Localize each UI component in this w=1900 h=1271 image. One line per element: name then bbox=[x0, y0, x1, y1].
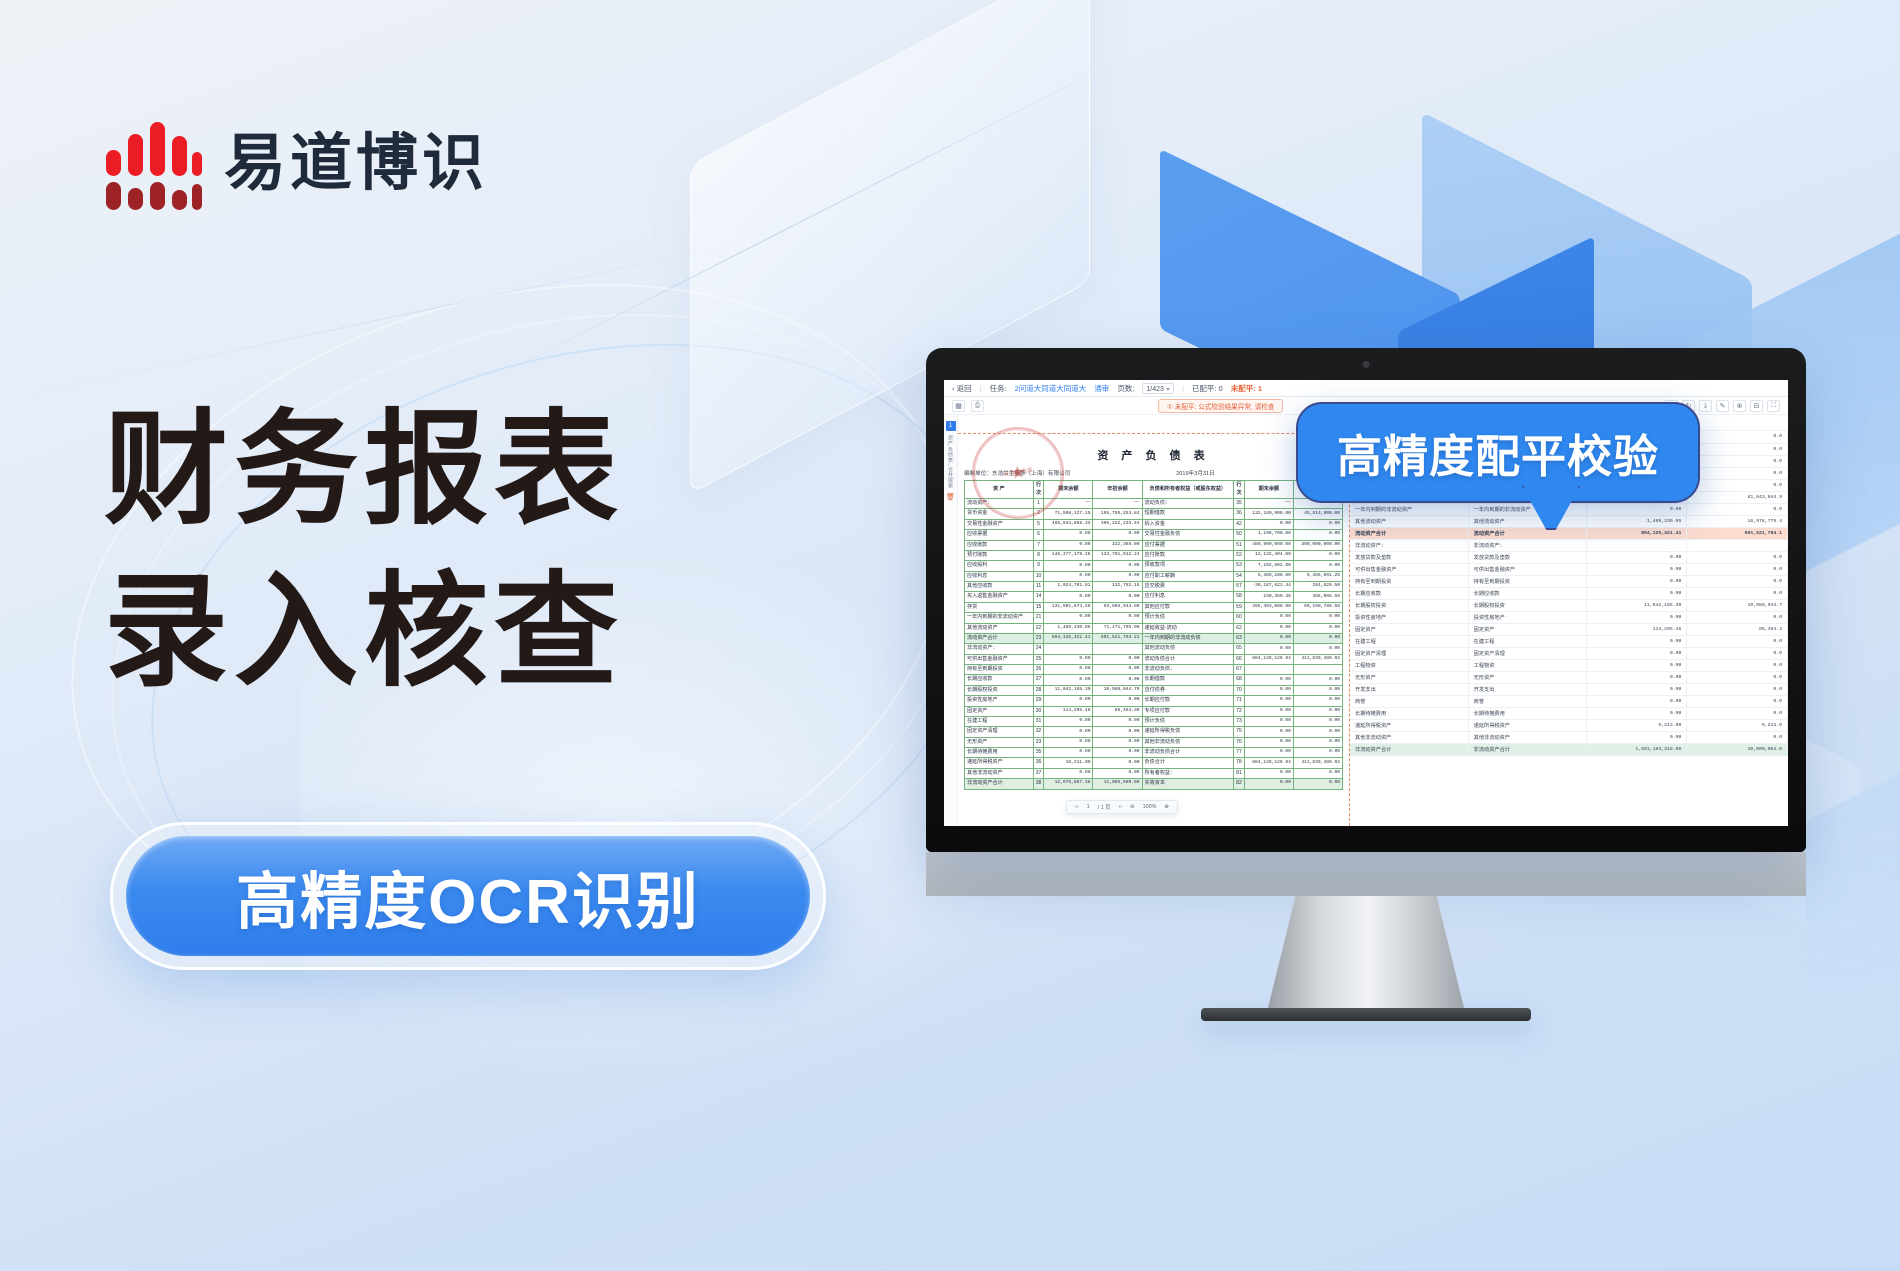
table-cell: 0.00 bbox=[1293, 737, 1342, 747]
table-cell: 133,791,912.24 bbox=[1093, 550, 1142, 560]
table-cell: 11,065,509.00 bbox=[1093, 779, 1142, 789]
star-icon: ★ bbox=[1009, 460, 1027, 486]
table-cell: 0.00 bbox=[1044, 737, 1093, 747]
banner-canvas: 易道博识 财务报表 录入核查 高精度OCR识别 ‹ 返回 | 任务: 2问道大同… bbox=[0, 0, 1900, 1271]
table-cell: 长期应收款 bbox=[965, 675, 1034, 685]
table-cell: 6 bbox=[1033, 530, 1044, 540]
list-item[interactable]: 持有至到期投资持有至到期投资0.000.0 bbox=[1350, 575, 1788, 587]
table-cell: 132,752.15 bbox=[1093, 582, 1142, 592]
table-cell: 0.00 bbox=[1093, 737, 1142, 747]
table-cell: 7 bbox=[1033, 540, 1044, 550]
field-cell: 0.0 bbox=[1687, 443, 1788, 455]
table-row[interactable]: 无形资产330.000.00其他非流动负债760.000.00 bbox=[965, 737, 1343, 747]
table-cell: 132,180,906.00 bbox=[1244, 509, 1293, 519]
table-cell: 131,991,874.29 bbox=[1044, 602, 1093, 612]
page-title: 财务报表 录入核查 bbox=[104, 392, 624, 710]
table-cell: 0.00 bbox=[1293, 550, 1342, 560]
table-row[interactable]: 流动资产合计23894,125,421.41601,521,794.21一年内到… bbox=[965, 633, 1343, 643]
field-cell: 发放贷款及垫款 bbox=[1350, 551, 1468, 563]
table-column-header: 年初余额 bbox=[1093, 481, 1142, 499]
list-item[interactable]: 投资性房地产投资性房地产0.000.0 bbox=[1350, 611, 1788, 623]
table-cell: 1,489,330.95 bbox=[1044, 623, 1093, 633]
field-cell: 流动资产合计 bbox=[1350, 527, 1468, 539]
table-cell: 114,295.46 bbox=[1044, 706, 1093, 716]
table-row[interactable]: 投资性房地产290.000.00长期应付款710.000.00 bbox=[965, 696, 1343, 706]
unbalanced-count: 未配平: 1 bbox=[1231, 383, 1262, 394]
table-cell: 0.00 bbox=[1044, 540, 1093, 550]
table-column-header: 行次 bbox=[1234, 481, 1245, 499]
list-item[interactable]: 商誉商誉0.000.0 bbox=[1350, 695, 1788, 707]
field-cell: 0.00 bbox=[1586, 659, 1687, 671]
table-cell: 0.00 bbox=[1044, 696, 1093, 706]
table-row[interactable]: 应收利息100.000.00应付职工薪酬545,369,288.005,455,… bbox=[965, 571, 1343, 581]
table-cell: 应付利息 bbox=[1142, 592, 1234, 602]
table-cell: 396,222,233.44 bbox=[1093, 519, 1142, 529]
table-cell: 0.00 bbox=[1093, 748, 1142, 758]
table-cell: 50 bbox=[1234, 530, 1245, 540]
table-cell: 拆入资金 bbox=[1142, 519, 1234, 529]
task-name[interactable]: 2问道大同道大同道大 bbox=[1015, 383, 1087, 394]
headline-line-2: 录入核查 bbox=[104, 554, 624, 710]
table-cell: 0.00 bbox=[1044, 727, 1093, 737]
table-cell: 230,359.38 bbox=[1244, 592, 1293, 602]
table-cell: 投资性房地产 bbox=[965, 696, 1034, 706]
field-cell: 0.0 bbox=[1687, 731, 1788, 743]
table-cell: 0.00 bbox=[1044, 675, 1093, 685]
table-cell: 65 bbox=[1234, 644, 1245, 654]
table-cell: 0.00 bbox=[1293, 561, 1342, 571]
table-cell: 28 bbox=[1033, 685, 1044, 695]
table-cell: 12,975,857.38 bbox=[1044, 779, 1093, 789]
table-cell: 0.00 bbox=[1244, 519, 1293, 529]
table-cell: 0.00 bbox=[1093, 696, 1142, 706]
table-row[interactable]: 交易性金融资产5488,944,888.33396,222,233.44拆入资金… bbox=[965, 519, 1343, 529]
table-cell: 0.00 bbox=[1293, 675, 1342, 685]
table-cell: 流动负债合计 bbox=[1142, 654, 1234, 664]
table-cell bbox=[1244, 665, 1293, 675]
zoom-level: 100% bbox=[1143, 804, 1157, 810]
list-item[interactable]: 其他非流动资产其他非流动资产0.000.0 bbox=[1350, 731, 1788, 743]
table-cell: 其他应付款 bbox=[1142, 602, 1234, 612]
table-cell: 应收票据 bbox=[965, 530, 1034, 540]
table-cell: 1,198,708.00 bbox=[1244, 530, 1293, 540]
table-cell: 322,368.00 bbox=[1093, 540, 1142, 550]
table-cell: 15 bbox=[1033, 602, 1044, 612]
cta-pill[interactable]: 高精度OCR识别 bbox=[110, 822, 826, 970]
field-cell: 非流动资产： bbox=[1468, 539, 1586, 551]
table-row[interactable]: 其他非流动资产370.000.00所有者权益：810.000.00 bbox=[965, 768, 1343, 778]
table-cell: 固定资产清理 bbox=[965, 727, 1034, 737]
table-cell: 预付账款 bbox=[965, 550, 1034, 560]
table-cell: 非流动负债合计 bbox=[1142, 748, 1234, 758]
table-row[interactable]: 其他应收款111,024,701.91132,752.15应交税费57-30,1… bbox=[965, 582, 1343, 592]
pagination-current: 1 bbox=[1087, 804, 1090, 810]
field-cell: 0.00 bbox=[1586, 563, 1687, 575]
field-cell: 递延所得税资产 bbox=[1468, 719, 1586, 731]
pagination-control[interactable]: ‹‹ 1 / 1 页 ›› ⊖ 100% ⊕ bbox=[1066, 800, 1178, 814]
table-cell: 0.00 bbox=[1093, 768, 1142, 778]
table-cell: 长期股权投资 bbox=[965, 685, 1034, 695]
table-row[interactable]: 非流动资产：24其他流动负债650.000.00 bbox=[965, 644, 1343, 654]
table-cell: 35 bbox=[1033, 748, 1044, 758]
field-cell: 持有至到期投资 bbox=[1350, 575, 1468, 587]
table-cell: 66 bbox=[1234, 654, 1245, 664]
field-cell: 其他流动资产 bbox=[1468, 515, 1586, 527]
field-cell: 0.00 bbox=[1586, 671, 1687, 683]
table-cell: 0.00 bbox=[1093, 571, 1142, 581]
table-row[interactable]: 应收股利90.000.00预收款项537,102,602.000.00 bbox=[965, 561, 1343, 571]
field-cell: 601,521,794.1 bbox=[1687, 527, 1788, 539]
table-cell: 0.00 bbox=[1093, 530, 1142, 540]
table-cell bbox=[1044, 644, 1093, 654]
table-row[interactable]: 非流动资产合计3812,975,857.3811,065,509.00实收资本8… bbox=[965, 779, 1343, 789]
table-cell: 36 bbox=[1033, 758, 1044, 768]
table-cell: 35 bbox=[1234, 499, 1245, 509]
field-cell: 9,213.0 bbox=[1687, 719, 1788, 731]
list-item[interactable]: 在建工程在建工程0.000.0 bbox=[1350, 635, 1788, 647]
table-cell: 0.00 bbox=[1293, 779, 1342, 789]
table-cell: 应付职工薪酬 bbox=[1142, 571, 1234, 581]
bezel-bottom bbox=[926, 826, 1806, 852]
table-cell: 385,065.58 bbox=[1293, 592, 1342, 602]
list-item[interactable]: 递延所得税资产递延所得税资产9,213.009,213.0 bbox=[1350, 719, 1788, 731]
table-cell: 300,000,000.00 bbox=[1293, 540, 1342, 550]
table-cell: 5 bbox=[1033, 519, 1044, 529]
list-item[interactable]: 可供出售金融资产可供出售金融资产0.000.0 bbox=[1350, 563, 1788, 575]
field-cell bbox=[1687, 539, 1788, 551]
table-cell: 26 bbox=[1033, 665, 1044, 675]
field-cell: 0.00 bbox=[1586, 551, 1687, 563]
field-cell: 0.00 bbox=[1586, 575, 1687, 587]
table-cell: 0.00 bbox=[1044, 654, 1093, 664]
unbalanced-alert: ① 未配平: 公式校验结果异常, 请检查 bbox=[1158, 399, 1283, 413]
table-cell: 68 bbox=[1234, 675, 1245, 685]
table-cell: 195,755,253.84 bbox=[1093, 509, 1142, 519]
table-cell: 884,149,126.94 bbox=[1244, 654, 1293, 664]
list-item[interactable]: 固定资产固定资产114,295.4685,464.3 bbox=[1350, 623, 1788, 635]
field-cell: 0.0 bbox=[1687, 683, 1788, 695]
list-item[interactable]: 其他流动资产其他流动资产1,489,330.9516,978,779.4 bbox=[1350, 515, 1788, 527]
list-item[interactable]: 非流动资产合计非流动资产合计1,891,183,318.0010,000,004… bbox=[1350, 743, 1788, 755]
table-cell: 0.00 bbox=[1244, 644, 1293, 654]
field-cell: 无形资产 bbox=[1468, 671, 1586, 683]
table-cell: 45,514,900.00 bbox=[1293, 509, 1342, 519]
table-cell: 0.00 bbox=[1244, 716, 1293, 726]
table-cell: 411,839,480.92 bbox=[1293, 758, 1342, 768]
table-row[interactable]: 固定资产清理320.000.00递延所得税负债750.000.00 bbox=[965, 727, 1343, 737]
back-button[interactable]: ‹ 返回 bbox=[952, 383, 972, 394]
field-cell: 其他非流动资产 bbox=[1468, 731, 1586, 743]
table-row[interactable]: 预付账款8146,377,179.26133,791,912.24应付账款521… bbox=[965, 550, 1343, 560]
table-cell: 0.00 bbox=[1244, 737, 1293, 747]
field-cell: 0.00 bbox=[1586, 587, 1687, 599]
cta-pill-body[interactable]: 高精度OCR识别 bbox=[126, 836, 810, 956]
field-cell: 0.0 bbox=[1687, 611, 1788, 623]
list-item[interactable]: 开发支出开发支出0.000.0 bbox=[1350, 683, 1788, 695]
list-item[interactable]: 长期应收款长期应收款0.000.0 bbox=[1350, 587, 1788, 599]
table-cell: 37 bbox=[1033, 768, 1044, 778]
table-cell: 应付债券 bbox=[1142, 685, 1234, 695]
field-cell: 1,489,330.95 bbox=[1586, 515, 1687, 527]
table-cell: 交易性金融资产 bbox=[965, 519, 1034, 529]
table-cell: 0.00 bbox=[1244, 779, 1293, 789]
table-cell: 0.00 bbox=[1244, 727, 1293, 737]
table-cell: 其他非流动资产 bbox=[965, 768, 1034, 778]
zoom-out-icon[interactable]: ⊖ bbox=[1130, 804, 1135, 810]
table-cell: 0.00 bbox=[1244, 633, 1293, 643]
table-row[interactable]: 长期待摊费用350.000.00非流动负债合计770.000.00 bbox=[965, 748, 1343, 758]
table-cell: 应交税费 bbox=[1142, 582, 1234, 592]
field-cell: 其他流动资产 bbox=[1350, 515, 1468, 527]
table-row[interactable]: 存货15131,991,874.2993,903,944.90其他应付款5926… bbox=[965, 602, 1343, 612]
zoom-icon[interactable]: ⊕ bbox=[1733, 400, 1746, 412]
monitor-stand-neck bbox=[1268, 896, 1464, 1008]
field-cell: 0.0 bbox=[1687, 479, 1788, 491]
field-cell: 0.0 bbox=[1687, 659, 1788, 671]
table-cell: 0.00 bbox=[1293, 696, 1342, 706]
field-cell: 非流动资产： bbox=[1350, 539, 1468, 551]
table-cell: 1,024,701.91 bbox=[1044, 582, 1093, 592]
table-cell: 0.00 bbox=[1044, 768, 1093, 778]
table-cell: 0.00 bbox=[1044, 530, 1093, 540]
prev-page-icon[interactable]: ‹‹ bbox=[1075, 804, 1079, 810]
table-row[interactable]: 应收账款70.00322,368.00应付票据51480,900,000.003… bbox=[965, 540, 1343, 550]
table-cell: 0.00 bbox=[1293, 519, 1342, 529]
table-cell: 284,629.50 bbox=[1293, 582, 1342, 592]
fit-icon[interactable]: ⊟ bbox=[1750, 400, 1763, 412]
table-cell: 0.00 bbox=[1293, 685, 1342, 695]
table-cell: 可供出售金融资产 bbox=[965, 654, 1034, 664]
field-cell: 长期应收款 bbox=[1468, 587, 1586, 599]
table-cell: 14 bbox=[1033, 592, 1044, 602]
report-date: 2019年3月31日 bbox=[1176, 469, 1215, 477]
table-row[interactable]: 固定资产30114,295.4685,464.30专项应付款720.000.00 bbox=[965, 706, 1343, 716]
table-row[interactable]: 应收票据60.000.00交易性金融负债501,198,708.000.00 bbox=[965, 530, 1343, 540]
table-cell: 24 bbox=[1033, 644, 1044, 654]
table-cell: 11 bbox=[1033, 582, 1044, 592]
list-item[interactable]: 无形资产无形资产0.000.0 bbox=[1350, 671, 1788, 683]
table-cell: 长期借款 bbox=[1142, 675, 1234, 685]
table-cell: 应付票据 bbox=[1142, 540, 1234, 550]
field-cell: 0.00 bbox=[1586, 503, 1687, 515]
table-cell: 0.00 bbox=[1093, 716, 1142, 726]
field-cell: 无形资产 bbox=[1350, 671, 1468, 683]
table-row[interactable]: 一年内到期的非流动资产210.000.00预计负债600.000.00 bbox=[965, 613, 1343, 623]
table-cell: 22 bbox=[1033, 623, 1044, 633]
table-cell: 持有至到期投资 bbox=[965, 665, 1034, 675]
table-cell: 预收款项 bbox=[1142, 561, 1234, 571]
table-cell: 实收资本 bbox=[1142, 779, 1234, 789]
table-cell: 488,944,888.33 bbox=[1044, 519, 1093, 529]
table-cell: 9 bbox=[1033, 561, 1044, 571]
field-cell: 0.0 bbox=[1687, 431, 1788, 443]
table-cell: 长期待摊费用 bbox=[965, 748, 1034, 758]
field-cell: 0.0 bbox=[1687, 647, 1788, 659]
table-cell: 其他流动资产 bbox=[965, 623, 1034, 633]
table-cell: 0.00 bbox=[1044, 571, 1093, 581]
trash-icon[interactable]: 🗑 bbox=[946, 493, 955, 501]
table-row[interactable]: 买入返售金融资产140.000.00应付利息58230,359.38385,06… bbox=[965, 592, 1343, 602]
table-cell: 0.00 bbox=[1044, 748, 1093, 758]
table-cell bbox=[1293, 665, 1342, 675]
field-cell: 0.0 bbox=[1687, 551, 1788, 563]
table-cell: 75 bbox=[1234, 727, 1245, 737]
table-row[interactable]: 在建工程310.000.00预计负债730.000.00 bbox=[965, 716, 1343, 726]
table-cell: 480,900,000.00 bbox=[1244, 540, 1293, 550]
table-cell: 0.00 bbox=[1244, 685, 1293, 695]
field-cell: 0.0 bbox=[1687, 707, 1788, 719]
field-cell: 81,843,944.9 bbox=[1687, 491, 1788, 503]
field-cell: 0.00 bbox=[1586, 611, 1687, 623]
table-cell: 0.00 bbox=[1244, 748, 1293, 758]
table-cell: 10,980,044.70 bbox=[1093, 685, 1142, 695]
table-cell: 0.00 bbox=[1293, 768, 1342, 778]
field-cell: 长期股权投资 bbox=[1468, 599, 1586, 611]
field-cell: 0.00 bbox=[1586, 731, 1687, 743]
field-cell: 发放贷款及垫款 bbox=[1468, 551, 1586, 563]
table-cell: 59 bbox=[1234, 602, 1245, 612]
table-cell: 流动负债： bbox=[1142, 499, 1234, 509]
page-select[interactable]: 1/423 bbox=[1142, 383, 1174, 394]
table-cell: 71 bbox=[1234, 696, 1245, 706]
edit-icon[interactable]: ✎ bbox=[1716, 400, 1729, 412]
table-cell: 77 bbox=[1234, 748, 1245, 758]
topbar-divider-2: | bbox=[1182, 384, 1184, 393]
table-cell: 短期借款 bbox=[1142, 509, 1234, 519]
rail-sheet-label: 资产负债表_合并报表 bbox=[947, 435, 954, 489]
rail-page-number[interactable]: 1 bbox=[946, 421, 956, 431]
field-cell: 工程物资 bbox=[1350, 659, 1468, 671]
table-cell: 265,403,088.00 bbox=[1244, 602, 1293, 612]
zoom-in-icon[interactable]: ⊕ bbox=[1164, 804, 1169, 810]
field-cell: 可供出售金融资产 bbox=[1468, 563, 1586, 575]
field-cell: 递延所得税资产 bbox=[1350, 719, 1468, 731]
table-cell: 60,198,786.58 bbox=[1293, 602, 1342, 612]
table-cell: 0.00 bbox=[1293, 623, 1342, 633]
list-item[interactable]: 非流动资产：非流动资产： bbox=[1350, 539, 1788, 551]
table-row[interactable]: 持有至到期投资260.000.00非流动负债：67 bbox=[965, 665, 1343, 675]
field-cell: 0.00 bbox=[1586, 695, 1687, 707]
brand-lockup: 易道博识 bbox=[104, 118, 488, 210]
table-cell: 0.00 bbox=[1044, 561, 1093, 571]
table-cell: —— bbox=[1244, 499, 1293, 509]
table-cell: 0.00 bbox=[1244, 623, 1293, 633]
balance-sheet-table: 资 产行次期末余额年初余额负债和所有者权益（或股东权益）行次期末余额年初余额 流… bbox=[964, 480, 1343, 790]
list-item[interactable]: 固定资产清理固定资产清理0.000.0 bbox=[1350, 647, 1788, 659]
field-cell bbox=[1586, 539, 1687, 551]
table-row[interactable]: 可供出售金融资产250.000.00流动负债合计66884,149,126.94… bbox=[965, 654, 1343, 664]
field-cell: 0.0 bbox=[1687, 587, 1788, 599]
field-cell: 固定资产 bbox=[1468, 623, 1586, 635]
field-cell: 非流动资产合计 bbox=[1468, 743, 1586, 755]
field-cell: 1,891,183,318.00 bbox=[1586, 743, 1687, 755]
table-cell: 长期应付款 bbox=[1142, 696, 1234, 706]
table-cell: 0.00 bbox=[1093, 727, 1142, 737]
table-cell: 0.00 bbox=[1293, 633, 1342, 643]
table-cell: 无形资产 bbox=[965, 737, 1034, 747]
field-cell: 10,980,044.7 bbox=[1687, 599, 1788, 611]
field-cell: 固定资产清理 bbox=[1468, 647, 1586, 659]
table-cell: 应收账款 bbox=[965, 540, 1034, 550]
table-cell: 71,171,795.09 bbox=[1093, 623, 1142, 633]
export-icon[interactable]: ⤓ bbox=[1699, 400, 1712, 412]
table-cell: 62 bbox=[1234, 623, 1245, 633]
table-cell: 18,211.00 bbox=[1044, 758, 1093, 768]
field-cell: 开发支出 bbox=[1350, 683, 1468, 695]
pagination-total: / 1 页 bbox=[1098, 803, 1111, 811]
table-cell: 0.00 bbox=[1244, 675, 1293, 685]
table-cell: 存货 bbox=[965, 602, 1034, 612]
table-cell: 0.00 bbox=[1093, 675, 1142, 685]
table-cell: 流动资产合计 bbox=[965, 633, 1034, 643]
field-cell: 可供出售金融资产 bbox=[1350, 563, 1468, 575]
field-cell: 开发支出 bbox=[1468, 683, 1586, 695]
table-cell: 81 bbox=[1234, 768, 1245, 778]
field-cell: 9,213.00 bbox=[1586, 719, 1687, 731]
table-cell: 预计负债 bbox=[1142, 716, 1234, 726]
field-cell: 持有至到期投资 bbox=[1468, 575, 1586, 587]
table-cell: 8 bbox=[1033, 550, 1044, 560]
table-row[interactable]: 其他流动资产221,489,330.9571,171,795.09递延收益-流动… bbox=[965, 623, 1343, 633]
field-cell: 0.0 bbox=[1687, 455, 1788, 467]
table-cell: 0.00 bbox=[1244, 696, 1293, 706]
table-cell: 应付账款 bbox=[1142, 550, 1234, 560]
table-cell: 38 bbox=[1033, 779, 1044, 789]
table-cell: 0.00 bbox=[1093, 758, 1142, 768]
field-cell: 长期股权投资 bbox=[1350, 599, 1468, 611]
table-cell: 0.00 bbox=[1044, 613, 1093, 623]
table-cell: 146,377,179.26 bbox=[1044, 550, 1093, 560]
field-cell: 0.00 bbox=[1586, 707, 1687, 719]
table-cell: 0.00 bbox=[1044, 665, 1093, 675]
brand-name: 易道博识 bbox=[224, 133, 488, 195]
table-cell: 93,903,944.90 bbox=[1093, 602, 1142, 612]
table-row[interactable]: 递延所得税资产3618,211.000.00负债合计78884,149,126.… bbox=[965, 758, 1343, 768]
table-cell: 专项应付款 bbox=[1142, 706, 1234, 716]
list-item[interactable]: 流动资产合计流动资产合计894,125,421.41601,521,794.1 bbox=[1350, 527, 1788, 539]
fullscreen-icon[interactable]: ⛶ bbox=[1767, 400, 1780, 412]
list-item[interactable]: 长期股权投资长期股权投资11,042,165.3010,980,044.7 bbox=[1350, 599, 1788, 611]
table-cell: 53 bbox=[1234, 561, 1245, 571]
callout-bubble: 高精度配平校验 bbox=[1296, 402, 1700, 503]
table-row[interactable]: 长期应收款270.000.00长期借款680.000.00 bbox=[965, 675, 1343, 685]
table-row[interactable]: 长期股权投资2811,042,165.3010,980,044.70应付债券70… bbox=[965, 685, 1343, 695]
table-cell: 其他流动负债 bbox=[1142, 644, 1234, 654]
table-cell: 21 bbox=[1033, 613, 1044, 623]
field-cell: 0.0 bbox=[1687, 635, 1788, 647]
monitor-stand-base bbox=[1201, 1008, 1531, 1021]
table-cell: 非流动资产合计 bbox=[965, 779, 1034, 789]
list-item[interactable]: 长期待摊费用长期待摊费用0.000.0 bbox=[1350, 707, 1788, 719]
field-cell: 0.0 bbox=[1687, 671, 1788, 683]
table-cell: -30,187,823.44 bbox=[1244, 582, 1293, 592]
field-cell: 85,464.3 bbox=[1687, 623, 1788, 635]
monitor-chin bbox=[926, 852, 1806, 896]
next-page-icon[interactable]: ›› bbox=[1118, 804, 1122, 810]
table-cell: 0.00 bbox=[1244, 768, 1293, 778]
field-cell: 0.00 bbox=[1586, 635, 1687, 647]
field-cell: 固定资产 bbox=[1350, 623, 1468, 635]
grid-icon[interactable]: ▦ bbox=[952, 400, 965, 412]
task-status: 通审 bbox=[1094, 383, 1109, 394]
list-item[interactable]: 工程物资工程物资0.000.0 bbox=[1350, 659, 1788, 671]
callout-body: 高精度配平校验 bbox=[1296, 402, 1700, 503]
waveform-bars-logo-icon bbox=[104, 118, 202, 210]
print-icon[interactable]: ⎙ bbox=[971, 400, 984, 412]
field-cell: 10,000,004.0 bbox=[1687, 743, 1788, 755]
list-item[interactable]: 发放贷款及垫款发放贷款及垫款0.000.0 bbox=[1350, 551, 1788, 563]
table-cell: 其他非流动负债 bbox=[1142, 737, 1234, 747]
